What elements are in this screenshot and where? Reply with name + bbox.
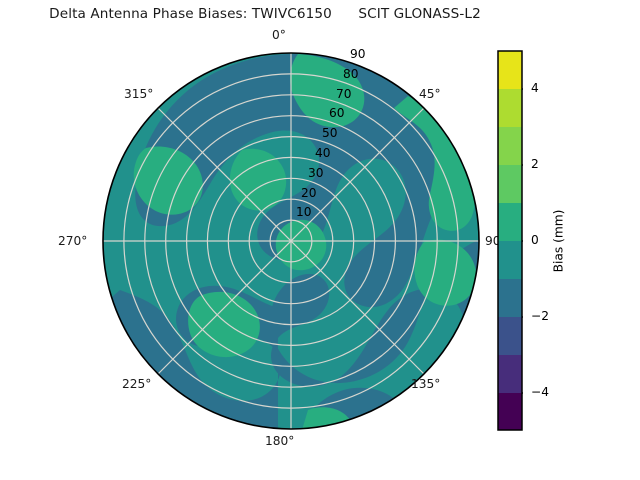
polar-bias-figure: Delta Antenna Phase Biases: TWIVC6150 SC…	[0, 0, 640, 480]
polar-plot-svg	[102, 52, 480, 430]
polar-axes[interactable]: 0° 45° 90 135° 180° 225° 270° 315° 10 20…	[102, 52, 480, 430]
colorbar-band-9	[498, 51, 522, 89]
colorbar-tick-label-m2: −2	[531, 309, 549, 323]
colorbar-band-2	[498, 317, 522, 355]
radial-tick-50: 50	[322, 126, 338, 140]
radial-tick-20: 20	[301, 186, 317, 200]
radial-tick-80: 80	[343, 67, 359, 81]
colorbar-band-5	[498, 203, 522, 241]
colorbar-band-6	[498, 165, 522, 203]
radial-tick-70: 70	[336, 87, 352, 101]
azimuth-tick-135: 135°	[411, 377, 440, 391]
colorbar-tick-label-2: 2	[531, 157, 539, 171]
colorbar-bands	[498, 51, 522, 430]
contour-band-high-e	[276, 220, 327, 271]
colorbar-tick-label-0: 0	[531, 233, 539, 247]
azimuth-tick-180: 180°	[265, 434, 294, 448]
page-title: Delta Antenna Phase Biases: TWIVC6150 SC…	[0, 6, 530, 22]
colorbar-tick-label-m4: −4	[531, 385, 549, 399]
radial-tick-90: 90	[350, 47, 366, 61]
colorbar-band-4	[498, 241, 522, 279]
colorbar-band-8	[498, 89, 522, 127]
colorbar-axis-label-text: Bias (mm)	[551, 209, 565, 272]
azimuth-tick-315: 315°	[124, 87, 153, 101]
radial-tick-30: 30	[308, 166, 324, 180]
colorbar-tick-label-4: 4	[531, 81, 539, 95]
colorbar-band-7	[498, 127, 522, 165]
colorbar-band-1	[498, 355, 522, 393]
colorbar-axis-label: Bias (mm)	[548, 50, 568, 431]
angular-gridlines	[103, 53, 479, 429]
azimuth-tick-0: 0°	[272, 28, 286, 42]
colorbar-band-3	[498, 279, 522, 317]
radial-tick-60: 60	[329, 106, 345, 120]
radial-tick-10: 10	[296, 205, 312, 219]
azimuth-tick-225: 225°	[122, 377, 151, 391]
colorbar-band-0	[498, 393, 522, 430]
colorbar[interactable]: 4 2 0 −2 −4	[497, 50, 523, 431]
colorbar-svg	[497, 50, 523, 431]
azimuth-tick-45: 45°	[419, 87, 441, 101]
azimuth-tick-270: 270°	[58, 234, 87, 248]
radial-tick-40: 40	[315, 146, 331, 160]
